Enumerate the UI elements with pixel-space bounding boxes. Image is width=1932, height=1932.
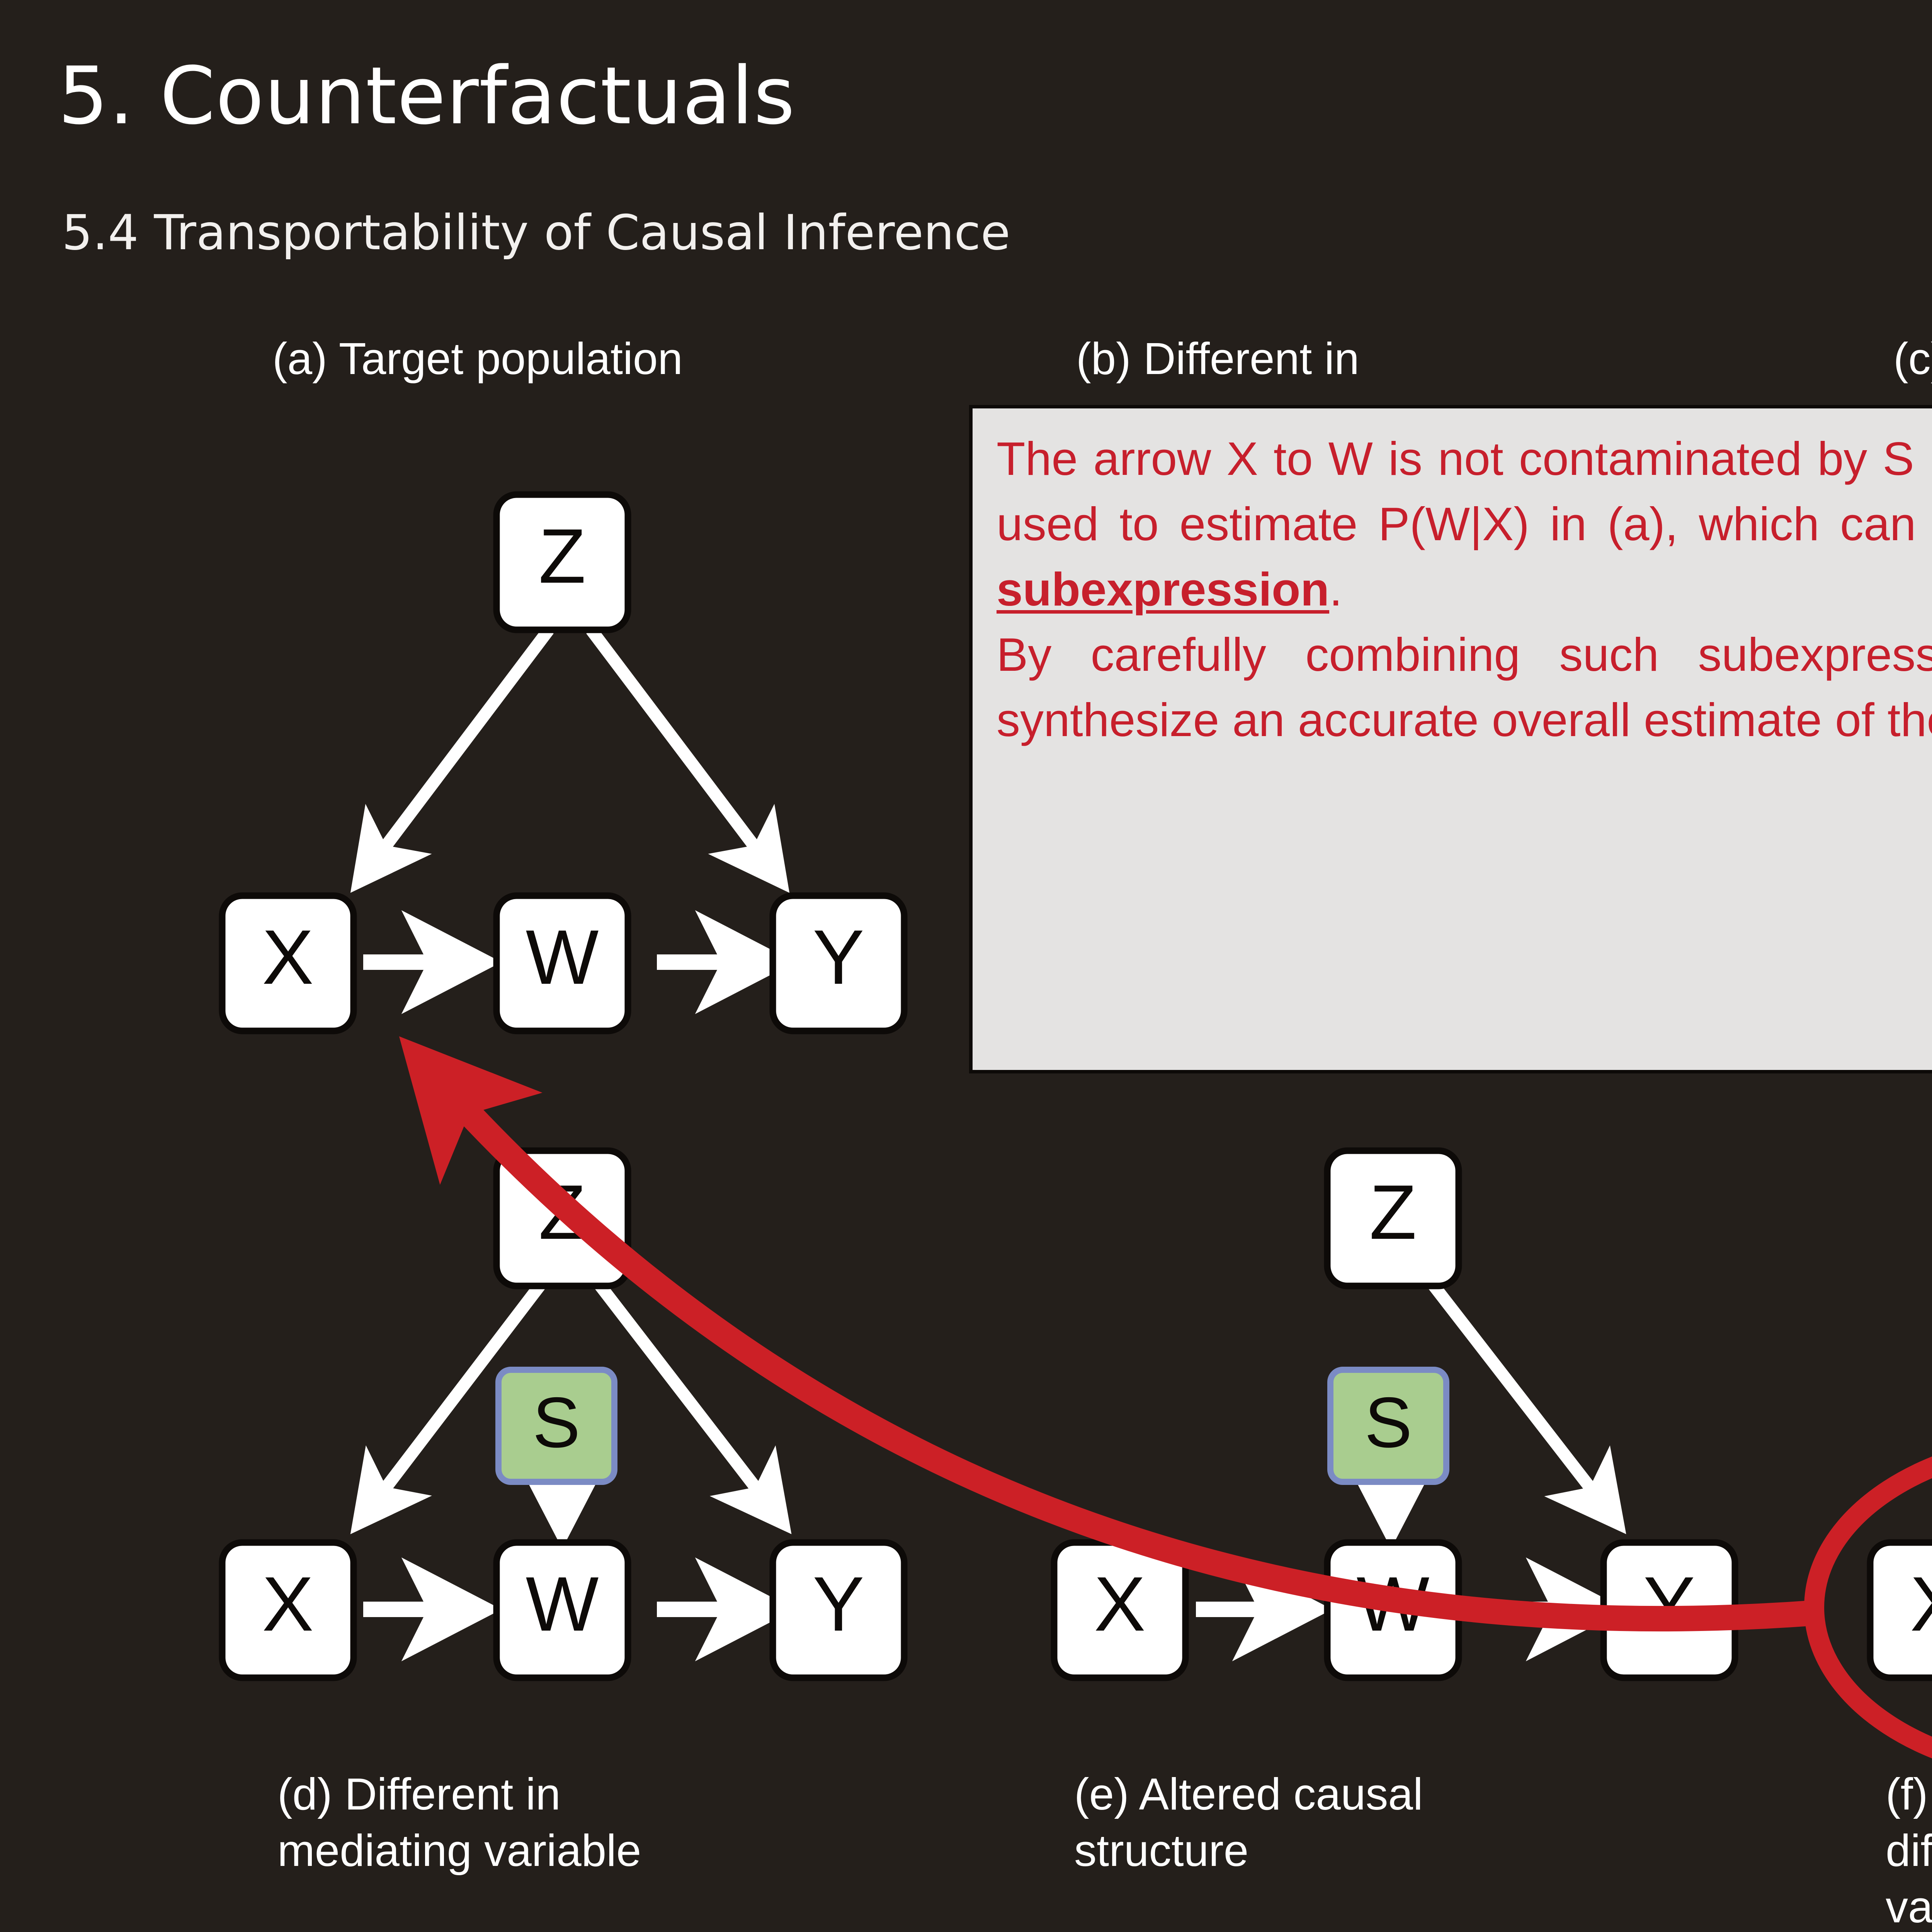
panel-e-graph: Z S X W Y: [1054, 1151, 1735, 1678]
panel-caption-c: (c) Different in: [1893, 330, 1932, 387]
svg-text:X: X: [262, 1561, 313, 1647]
svg-text:X: X: [262, 914, 313, 1000]
svg-text:W: W: [526, 914, 599, 1000]
svg-text:W: W: [526, 1561, 599, 1647]
panel-caption-b: (b) Different in: [1076, 330, 1359, 387]
highlight-ellipse: [1814, 1441, 1932, 1774]
svg-text:Y: Y: [813, 1561, 864, 1647]
svg-text:Y: Y: [813, 914, 864, 1000]
svg-text:S: S: [532, 1383, 580, 1463]
callout-paragraph-1: The arrow X to W is not contaminated by …: [997, 426, 1932, 622]
callout-paragraph-2: By carefully combining such subexpressio…: [997, 622, 1932, 753]
panel-f-graph: Z S X W Y: [1870, 1151, 1932, 1678]
panel-caption-a: (a) Target population: [272, 330, 683, 387]
panel-caption-e: (e) Altered causal structure: [1074, 1766, 1423, 1879]
svg-text:Z: Z: [539, 1169, 586, 1255]
callout-emphasis: subexpression: [997, 563, 1329, 616]
svg-text:X: X: [1910, 1561, 1932, 1647]
panel-a-graph: Z X W Y: [222, 495, 904, 1031]
svg-text:Z: Z: [539, 513, 586, 599]
callout-textbox: The arrow X to W is not contaminated by …: [969, 405, 1932, 1073]
callout-text-1: The arrow X to W is not contaminated by …: [997, 432, 1932, 550]
callout-text-1-end: .: [1329, 563, 1342, 616]
svg-text:Y: Y: [1643, 1561, 1695, 1647]
page-subtitle: 5.4 Transportability of Causal Inference: [62, 205, 1010, 261]
panel-caption-d: (d) Different in mediating variable: [277, 1766, 641, 1879]
svg-text:W: W: [1357, 1561, 1430, 1647]
page-title: 5. Counterfactuals: [58, 50, 795, 142]
svg-text:X: X: [1094, 1561, 1145, 1647]
panel-caption-f: (f) Altered structure, different in outc…: [1886, 1766, 1932, 1932]
red-curved-pointer: [437, 1078, 1810, 1619]
panel-d-graph: Z S X W Y: [222, 1151, 904, 1678]
svg-text:Z: Z: [1369, 1169, 1417, 1255]
svg-text:S: S: [1364, 1383, 1412, 1463]
